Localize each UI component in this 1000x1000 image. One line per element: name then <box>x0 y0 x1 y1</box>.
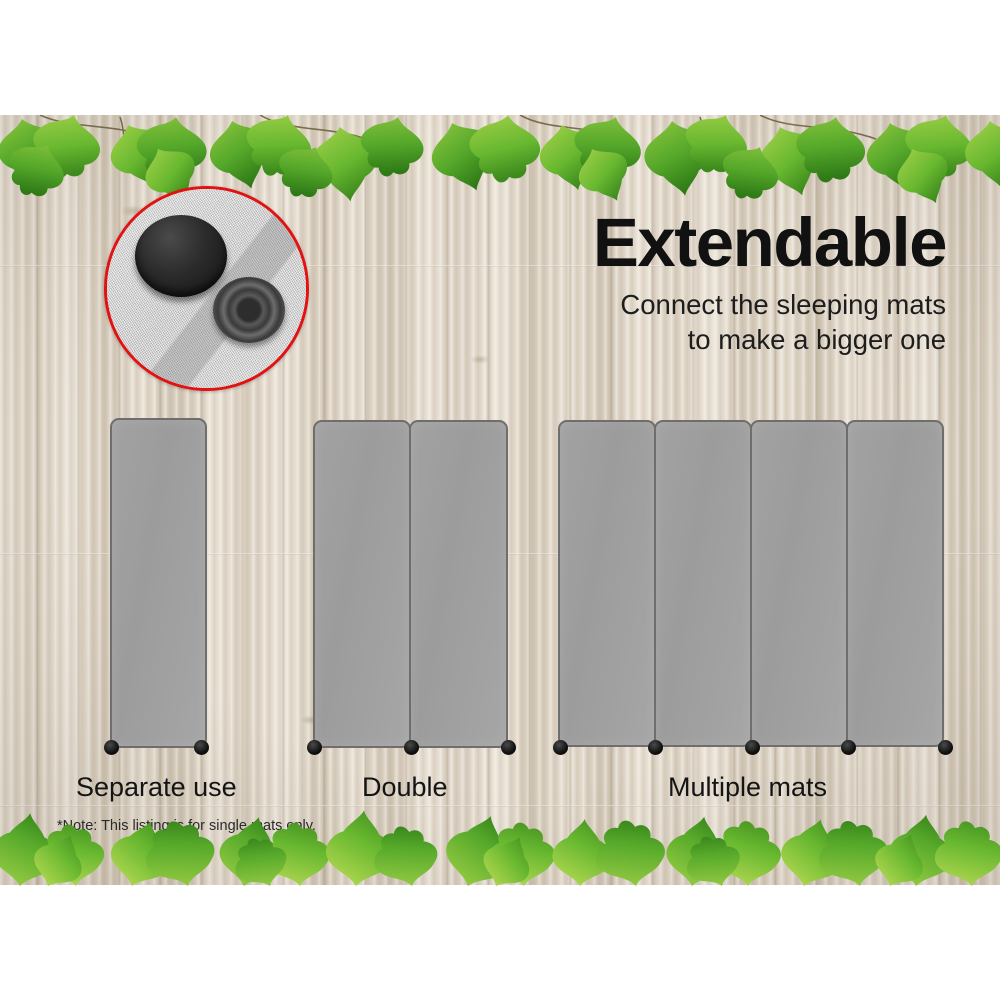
disclaimer-note: *Note: This listing is for single mats o… <box>57 818 316 834</box>
snap-dot <box>104 740 119 755</box>
snap-dot <box>501 740 516 755</box>
page-title: Extendable <box>526 208 946 277</box>
snap-dot <box>745 740 760 755</box>
snap-socket-icon <box>213 277 285 343</box>
snap-dot <box>307 740 322 755</box>
caption-separate: Separate use <box>76 772 237 803</box>
subtitle-line-2: to make a bigger one <box>516 323 946 358</box>
mat-panel <box>654 420 752 747</box>
page-subtitle: Connect the sleeping mats to make a bigg… <box>516 288 946 358</box>
mat-panel <box>558 420 656 747</box>
mat-group-separate <box>110 418 207 748</box>
snap-dot <box>553 740 568 755</box>
snap-dot <box>841 740 856 755</box>
caption-double: Double <box>362 772 448 803</box>
snap-dot <box>404 740 419 755</box>
mat-panel <box>409 420 508 748</box>
mat-group-multiple <box>558 420 944 747</box>
snap-dot <box>648 740 663 755</box>
snap-button-closeup <box>104 186 309 391</box>
snap-stud-icon <box>135 215 227 297</box>
caption-multiple: Multiple mats <box>668 772 827 803</box>
snap-dot <box>194 740 209 755</box>
subtitle-line-1: Connect the sleeping mats <box>516 288 946 323</box>
mat-panel <box>750 420 848 747</box>
snap-dot <box>938 740 953 755</box>
mat-panel <box>846 420 944 747</box>
mat-group-double <box>313 420 508 748</box>
mat-panel <box>110 418 207 748</box>
product-infographic: Extendable Connect the sleeping mats to … <box>0 0 1000 1000</box>
mat-panel <box>313 420 411 748</box>
